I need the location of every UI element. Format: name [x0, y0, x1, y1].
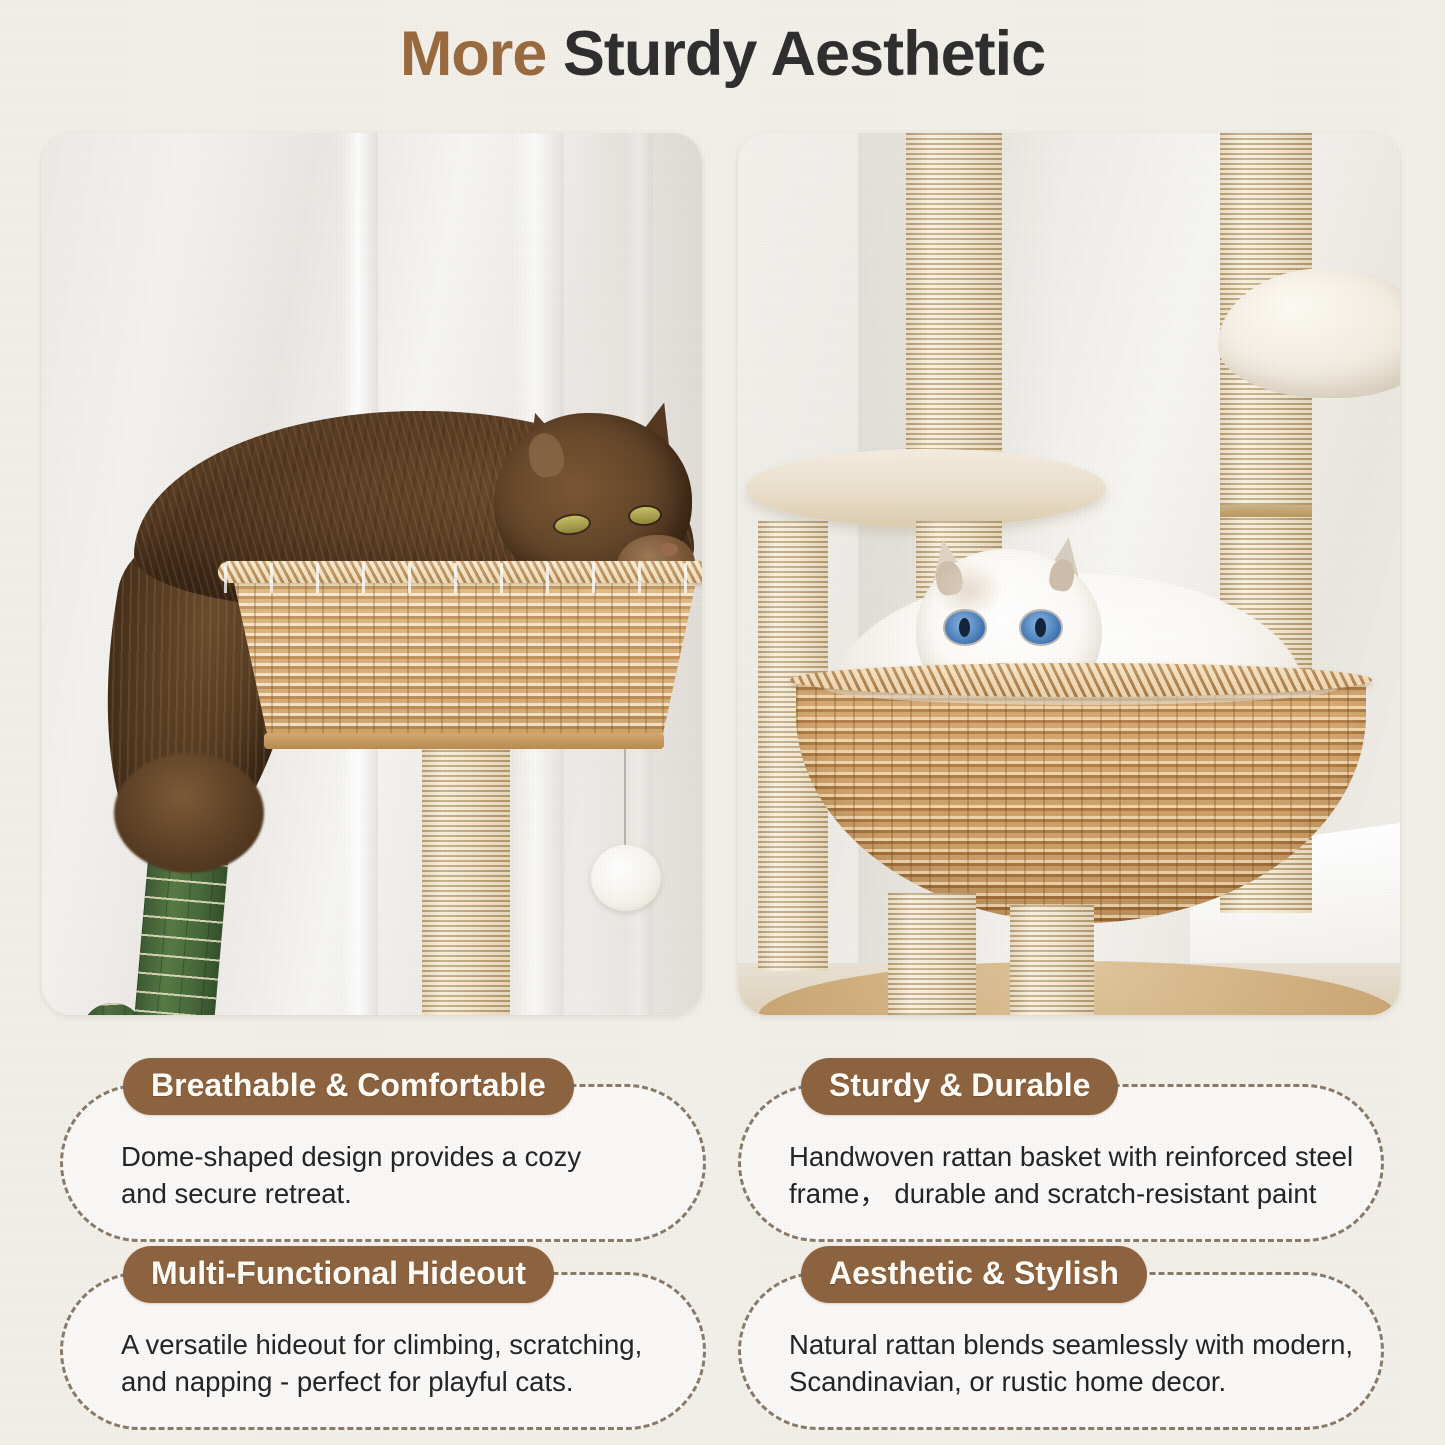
cat-nose — [660, 543, 678, 556]
feature-list: Breathable & Comfortable Dome-shaped des… — [0, 1040, 1445, 1440]
cat-tail-tip — [114, 753, 264, 873]
cat-pupil — [1035, 618, 1046, 637]
cat-pupil — [959, 618, 970, 637]
round-platform — [746, 449, 1106, 527]
feature-badge: Sturdy & Durable — [801, 1058, 1118, 1115]
feature-description: Natural rattan blends seamlessly with mo… — [789, 1327, 1357, 1400]
cat-eye — [1021, 611, 1061, 644]
feature-card-sturdy-durable: Sturdy & Durable Handwoven rattan basket… — [738, 1084, 1384, 1242]
basket-rim — [790, 663, 1372, 697]
feature-card-aesthetic-stylish: Aesthetic & Stylish Natural rattan blend… — [738, 1272, 1384, 1430]
feature-badge: Breathable & Comfortable — [123, 1058, 574, 1115]
feature-description: Handwoven rattan basket with reinforced … — [789, 1139, 1361, 1212]
rim-stitching — [224, 563, 702, 593]
page-title: More Sturdy Aesthetic — [0, 18, 1445, 90]
sisal-post — [906, 133, 1002, 463]
basket-base — [264, 733, 664, 749]
product-photo-ragdoll — [738, 133, 1400, 1015]
right-scene-background — [738, 133, 1400, 1015]
rope-texture — [888, 893, 976, 1015]
page-title-accent: More — [400, 19, 547, 89]
feature-description: Dome-shaped design provides a cozy and s… — [121, 1139, 667, 1212]
pompom-toy — [591, 845, 661, 911]
feature-card-breathable-comfortable: Breathable & Comfortable Dome-shaped des… — [60, 1084, 706, 1242]
cat-eye — [945, 611, 985, 644]
sisal-post — [1010, 905, 1094, 1015]
product-photo-tabby — [42, 133, 702, 1015]
toy-string — [624, 743, 626, 853]
feature-badge: Aesthetic & Stylish — [801, 1246, 1147, 1303]
rope-texture — [1010, 905, 1094, 1015]
feature-description: A versatile hideout for climbing, scratc… — [121, 1327, 667, 1400]
rope-texture — [422, 745, 510, 1015]
sisal-post — [422, 745, 510, 1015]
feature-card-multi-functional-hideout: Multi-Functional Hideout A versatile hid… — [60, 1272, 706, 1430]
rope-texture — [906, 133, 1002, 463]
left-scene-background — [42, 133, 702, 1015]
feature-badge: Multi-Functional Hideout — [123, 1246, 554, 1303]
rim-twist-texture — [790, 663, 1372, 697]
sisal-post — [888, 893, 976, 1015]
post-connector-ring — [1220, 505, 1312, 517]
page-title-main: Sturdy Aesthetic — [563, 19, 1045, 89]
